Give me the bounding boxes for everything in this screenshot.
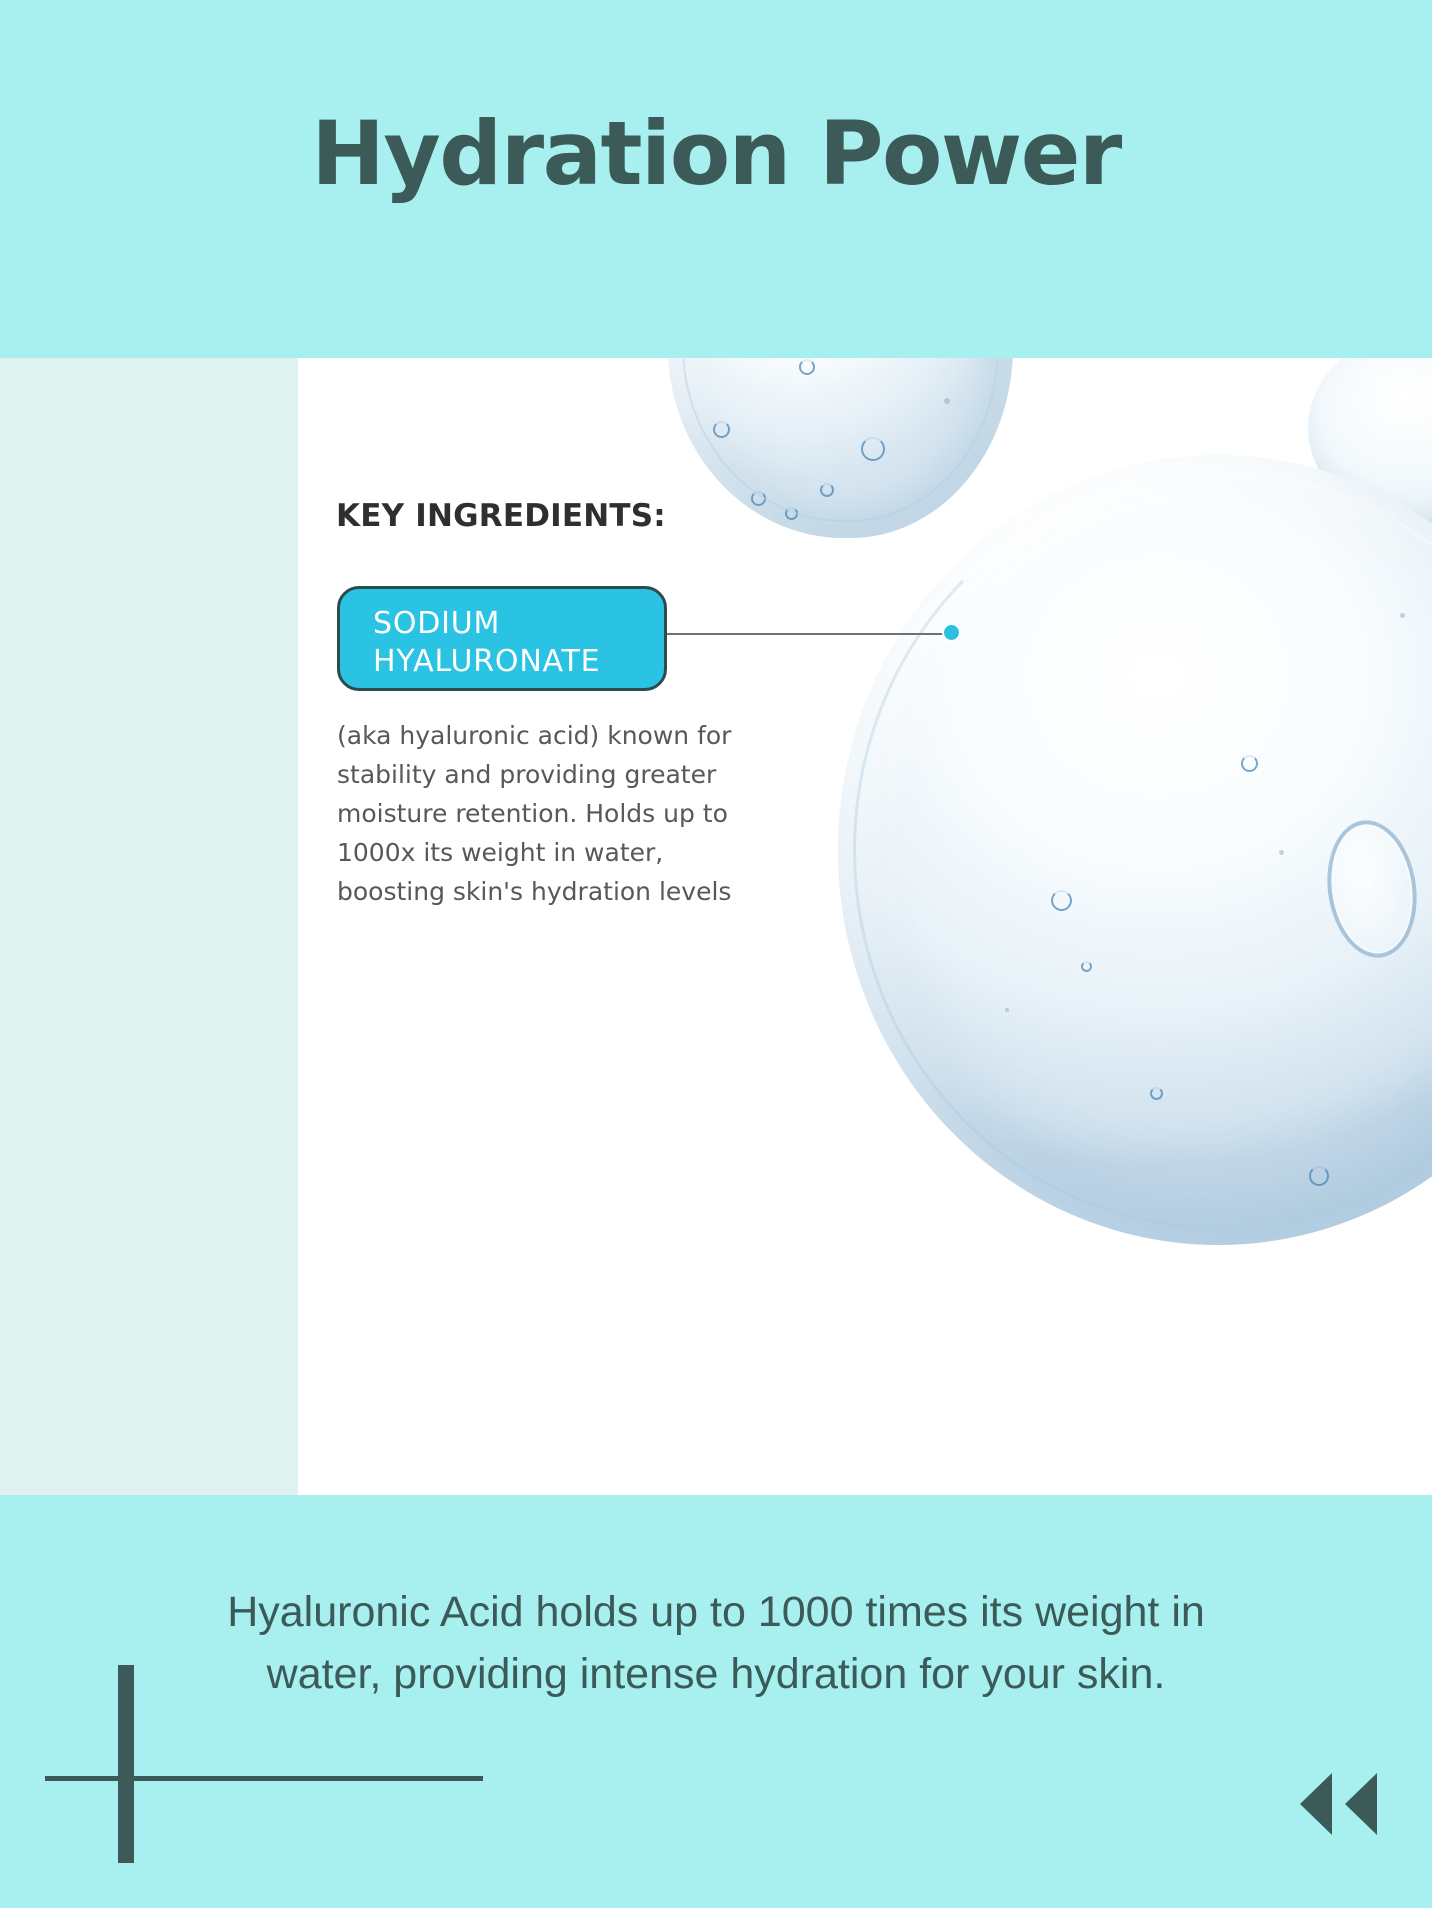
page-title: Hydration Power [0,110,1432,198]
sparkle-dot-icon [944,398,950,404]
droplet-top [668,358,1013,538]
sparkle-dot-icon [1005,1008,1009,1012]
left-accent-panel [0,358,298,1495]
prev-arrow-icon-secondary[interactable] [1345,1773,1377,1835]
air-bubble-icon [1241,755,1258,772]
ingredient-description: (aka hyaluronic acid) known for stabilit… [337,716,737,911]
air-bubble-icon [1051,890,1072,911]
droplet-main [838,455,1432,1245]
prev-arrow-icon[interactable] [1300,1773,1332,1835]
main-content-area: KEY INGREDIENTS: SODIUM HYALURONATE (aka… [0,358,1432,1495]
ingredient-badge-line-1: SODIUM [373,605,664,643]
air-bubble-icon [1309,1166,1329,1186]
sparkle-dot-icon [1279,850,1284,855]
callout-connector-line [660,633,960,635]
air-bubble-icon [751,491,766,506]
crosshair-vertical-bar [118,1665,134,1863]
air-bubble-icon [1150,1087,1163,1100]
crosshair-horizontal-rule [45,1776,483,1781]
section-heading: KEY INGREDIENTS: [336,498,666,534]
footer-banner: Hyaluronic Acid holds up to 1000 times i… [0,1495,1432,1908]
air-bubble-icon [1081,961,1092,972]
ingredient-badge[interactable]: SODIUM HYALURONATE [337,586,667,691]
droplet-inner-lens [1319,815,1425,964]
air-bubble-icon [799,359,815,375]
air-bubble-icon [861,437,885,461]
air-bubble-icon [820,483,834,497]
slide-page: Hydration Power [0,0,1432,1908]
sparkle-dot-icon [1400,613,1405,618]
navigation-arrows[interactable] [1300,1773,1377,1835]
ingredient-badge-line-2: HYALURONATE [373,643,664,681]
air-bubble-icon [785,507,798,520]
callout-marker-dot-icon [942,623,961,642]
header-banner: Hydration Power [0,0,1432,358]
air-bubble-icon [713,421,730,438]
footer-caption: Hyaluronic Acid holds up to 1000 times i… [196,1581,1236,1705]
